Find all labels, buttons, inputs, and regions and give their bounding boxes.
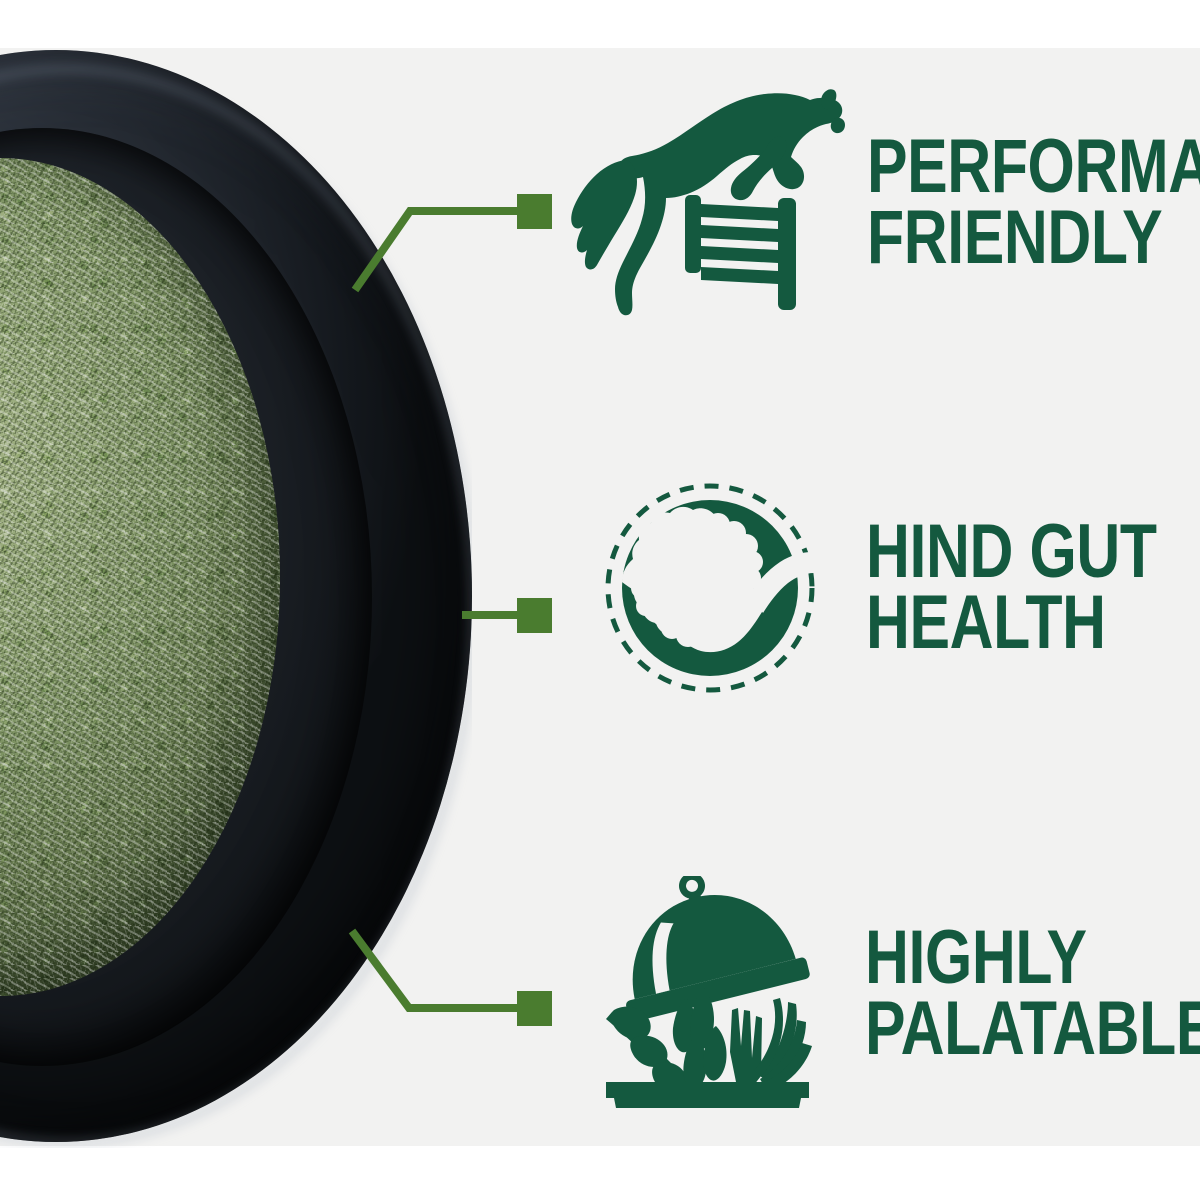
feature-hind-gut-health[interactable]: HIND GUT HEALTH xyxy=(600,478,1200,698)
feature-label-highly-palatable: HIGHLY PALATABLE xyxy=(865,923,1200,1064)
feature-label-performance-friendly: PERFORMANCE FRIENDLY xyxy=(867,132,1200,273)
feature-label-hind-gut-health: HIND GUT HEALTH xyxy=(866,517,1200,658)
hind-gut-intestine-circle-icon xyxy=(600,478,820,698)
fence-shape xyxy=(685,195,796,310)
jumping-horse-over-fence-icon xyxy=(560,88,845,318)
cloche-dome-with-herbs-icon xyxy=(600,876,815,1111)
feature-highly-palatable[interactable]: HIGHLY PALATABLE xyxy=(600,876,1200,1111)
product-feature-infographic: PERFORMANCE FRIENDLY xyxy=(0,0,1200,1200)
feature-performance-friendly[interactable]: PERFORMANCE FRIENDLY xyxy=(560,88,1200,318)
